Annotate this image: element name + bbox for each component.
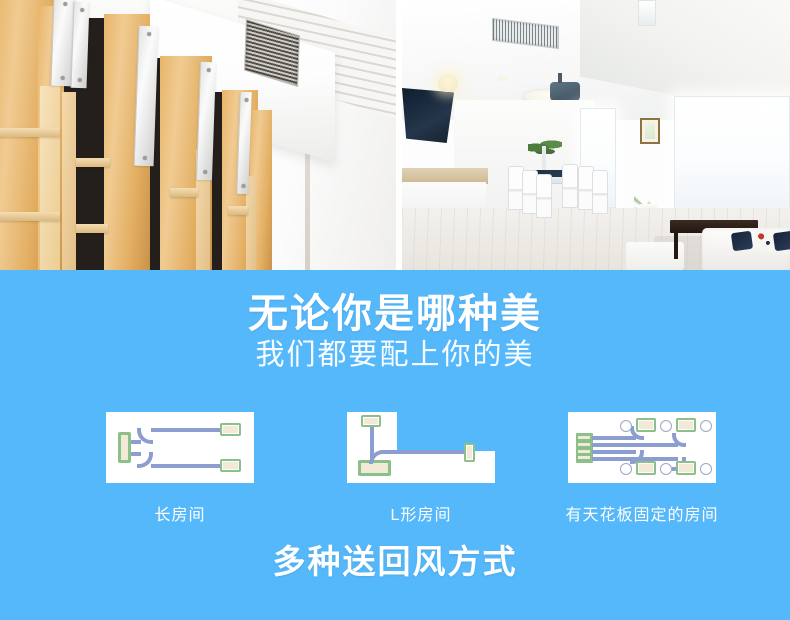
potted-plant-icon (634, 160, 664, 210)
projector-icon (550, 82, 580, 102)
duct-segment (592, 443, 678, 447)
room-card-ceiling-fixed-room[interactable]: 有天花板固定的房间 (568, 412, 716, 525)
promo-footline: 多种送回风方式 (0, 545, 790, 578)
room-card-l-shaped-room[interactable]: L形房间 (347, 412, 495, 525)
shelf-board (170, 188, 198, 197)
downlight-icon (498, 76, 507, 81)
return-vent (636, 461, 656, 475)
duct-segment (131, 440, 141, 444)
vase (542, 146, 546, 172)
clerestory-window (638, 0, 656, 26)
supply-vent (220, 423, 241, 436)
promo-panel: 无论你是哪种美 我们都要配上你的美 (0, 270, 790, 620)
room-card-label: 有天花板固定的房间 (542, 501, 742, 525)
dining-chair (592, 170, 608, 214)
room-type-cards: 长房间 L形房间 (0, 412, 790, 527)
ceiling-light-icon (700, 463, 712, 475)
shelf-board (228, 206, 248, 215)
duct-segment (592, 457, 678, 461)
range-hood (402, 88, 454, 143)
pendant-lamp-icon (438, 74, 458, 92)
duct-manifold (576, 433, 593, 463)
room-card-label: L形房间 (347, 501, 495, 525)
supply-vent (676, 418, 696, 432)
dining-chair (536, 174, 552, 218)
promo-subheadline: 我们都要配上你的美 (0, 341, 790, 370)
supply-vent (636, 418, 656, 432)
supply-vent (464, 443, 475, 462)
promo-page: 无论你是哪种美 我们都要配上你的美 (0, 0, 790, 620)
duct-segment (592, 436, 636, 440)
bright-living-dining-room-photo (402, 0, 790, 270)
ceiling-light-icon (620, 463, 632, 475)
shelf-board (76, 224, 108, 233)
coffee-table-leg (674, 233, 678, 259)
cushion (731, 231, 753, 252)
supply-vent (220, 459, 241, 472)
l-shaped-room-duct-diagram (347, 412, 495, 483)
long-room-duct-diagram (106, 412, 254, 483)
framed-picture (640, 118, 660, 144)
duct-segment (381, 450, 467, 454)
supply-vent (361, 415, 381, 427)
return-vent (676, 461, 696, 475)
shelf-board (0, 128, 60, 137)
indoor-unit (118, 432, 131, 463)
duct-segment (151, 428, 223, 432)
duct-segment (151, 464, 223, 468)
ceiling-light-icon (620, 420, 632, 432)
wood-shelving-ceiling-vent-photo (0, 0, 396, 270)
wood-upright (62, 92, 76, 270)
ceiling-fixed-room-duct-diagram (568, 412, 716, 483)
metal-strap (71, 2, 90, 89)
cushion (773, 231, 790, 252)
room-card-long-room[interactable]: 长房间 (106, 412, 254, 525)
shelf-board (0, 212, 60, 221)
promo-headline: 无论你是哪种美 (0, 294, 790, 334)
room-card-label: 长房间 (106, 501, 254, 525)
ceiling-light-icon (660, 420, 672, 432)
window (674, 96, 790, 214)
photo-band (0, 0, 790, 270)
ceiling-light-icon (660, 463, 672, 475)
ceiling-light-icon (700, 420, 712, 432)
shelf-board (76, 158, 110, 167)
dining-chair (562, 164, 578, 208)
wood-upright (40, 86, 60, 270)
